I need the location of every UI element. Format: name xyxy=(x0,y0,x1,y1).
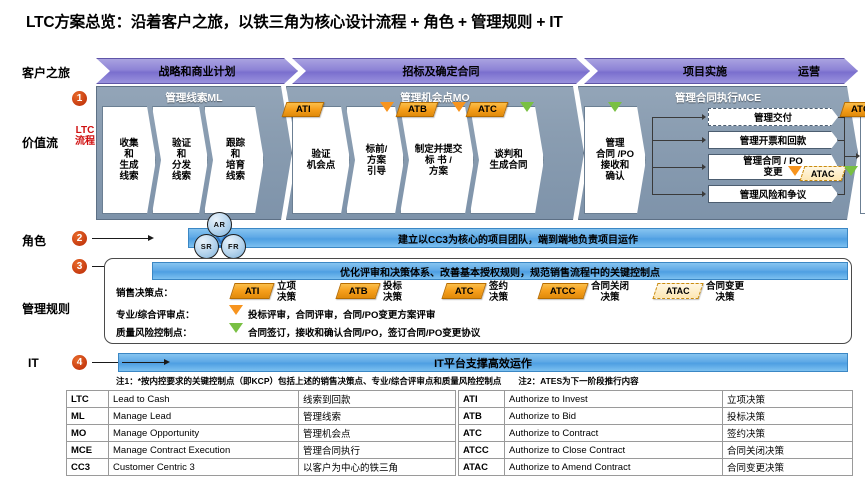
page-title: LTC方案总览：沿着客户之旅，以铁三角为核心设计流程 + 角色 + 管理规则 +… xyxy=(26,10,846,32)
mce-connector-out-1 xyxy=(838,140,845,141)
rules-banner: 优化评审和决策体系、改善基本授权规则，规范销售流程中的关键控制点 xyxy=(152,262,848,280)
value-stream-step-6[interactable]: 谈判和 生成合同 xyxy=(470,106,544,214)
decision-point-ati[interactable]: ATI xyxy=(229,283,274,299)
table-row: ML Manage Lead 管理线索 xyxy=(67,408,456,425)
cc3-role-ar[interactable]: AR xyxy=(207,212,232,237)
decision-point-atb-label: 投标 决策 xyxy=(383,281,402,303)
mce-connector-in-2 xyxy=(652,167,704,168)
mce-connector-close-arrow xyxy=(856,153,860,159)
value-stream-step-5[interactable]: 制定并提交 标 书 / 方案 xyxy=(400,106,474,214)
quality-point-triangle-icon xyxy=(229,323,243,333)
connector-roles-arrow xyxy=(148,235,154,241)
mce-connector-out-3 xyxy=(838,194,845,195)
review-point-triangle-icon xyxy=(229,305,243,315)
sales-decision-label: 销售决策点： xyxy=(116,285,173,299)
connector-roles xyxy=(92,238,148,239)
row-label-rules: 管理规则 xyxy=(22,300,70,317)
decision-point-atac[interactable]: ATAC xyxy=(652,283,703,299)
table-row: MCE Manage Contract Execution 管理合同执行 xyxy=(67,442,456,459)
table-row: MO Manage Opportunity 管理机会点 xyxy=(67,425,456,442)
it-banner-arrowhead xyxy=(164,359,170,365)
mce-subbox-3[interactable]: 管理风险和争议 xyxy=(708,185,838,203)
mce-connector-in-1 xyxy=(652,140,704,141)
step-number-3: 3 xyxy=(72,259,87,274)
gate-marker-atc[interactable]: ATC xyxy=(466,102,509,117)
row-label-customer-journey: 客户之旅 xyxy=(22,64,70,81)
footnote: 注1：*按内控要求的关键控制点（即KCP）包括上述的销售决策点、专业/综合评审点… xyxy=(116,375,639,387)
table-row: ATAC Authorize to Amend Contract 合同变更决策 xyxy=(459,459,853,476)
glossary-table-right: ATI Authorize to Invest 立项决策 ATB Authori… xyxy=(458,390,853,476)
review-triangle-3 xyxy=(788,166,802,176)
value-stream-step-8[interactable]: 关闭和 评价 合同 xyxy=(860,106,865,214)
table-row: ATCC Authorize to Close Contract 合同关闭决策 xyxy=(459,442,853,459)
value-stream-step-7[interactable]: 管理 合同 /PO 接收和 确认 xyxy=(584,106,646,214)
table-row: LTC Lead to Cash 线索到回款 xyxy=(67,391,456,408)
customer-journey-bar: 战略和商业计划 招标及确定合同 项目实施 运营 xyxy=(96,58,858,84)
review-point-text: 投标评审，合同评审，合同/PO变更方案评审 xyxy=(248,307,435,321)
gate-marker-ati[interactable]: ATI xyxy=(282,102,325,117)
review-point-label: 专业/综合评审点： xyxy=(116,307,195,321)
journey-phase-3[interactable]: 运营 xyxy=(760,58,858,84)
glossary-table-left: LTC Lead to Cash 线索到回款 ML Manage Lead 管理… xyxy=(66,390,456,476)
gate-marker-atcc[interactable]: ATCC xyxy=(840,102,865,117)
decision-point-atc[interactable]: ATC xyxy=(441,283,486,299)
row-label-it: IT xyxy=(28,356,39,370)
decision-point-atcc[interactable]: ATCC xyxy=(537,283,588,299)
value-stream-step-2[interactable]: 跟踪 和 培育 线索 xyxy=(204,106,264,214)
mce-connector-left-spine xyxy=(652,117,653,194)
quality-triangle-2 xyxy=(608,102,622,112)
it-banner-arrow-line xyxy=(122,362,164,363)
decision-point-atac-label: 合同变更 决策 xyxy=(706,281,744,303)
mce-connector-out-0 xyxy=(838,117,845,118)
table-row: ATI Authorize to Invest 立项决策 xyxy=(459,391,853,408)
roles-banner: 建立以CC3为核心的项目团队，端到端地负责项目运作 xyxy=(188,228,848,248)
cc3-role-sr[interactable]: SR xyxy=(194,234,219,259)
table-row: ATB Authorize to Bid 投标决策 xyxy=(459,408,853,425)
mce-connector-in-0 xyxy=(652,117,704,118)
quality-triangle-1 xyxy=(520,102,534,112)
ltc-process-label: LTC 流程 xyxy=(72,126,98,147)
mce-connector-arrow-2 xyxy=(702,164,706,170)
review-triangle-2 xyxy=(452,102,466,112)
value-stream-step-3[interactable]: 验证 机会点 xyxy=(292,106,350,214)
mce-connector-arrow-0 xyxy=(702,114,706,120)
step-number-2: 2 xyxy=(72,231,87,246)
cc3-role-fr[interactable]: FR xyxy=(221,234,246,259)
value-stream-step-0[interactable]: 收集 和 生成 线索 xyxy=(102,106,156,214)
value-stream-band: 管理线索ML 管理机会点MO 管理合同执行MCE 收集 和 生成 线索 验证 和… xyxy=(96,86,858,220)
gate-marker-atb[interactable]: ATB xyxy=(396,102,439,117)
row-label-value-stream: 价值流 xyxy=(22,134,58,151)
cc3-triangle-group: AR SR FR xyxy=(186,212,250,262)
quality-point-label: 质量风险控制点： xyxy=(116,325,192,339)
review-triangle-1 xyxy=(380,102,394,112)
gate-marker-atac[interactable]: ATAC xyxy=(800,166,847,181)
table-row: CC3 Customer Centric 3 以客户为中心的铁三角 xyxy=(67,459,456,476)
quality-triangle-3 xyxy=(844,166,858,176)
mce-connector-arrow-1 xyxy=(702,137,706,143)
quality-point-text: 合同签订，接收和确认合同/PO，签订合同/PO变更协议 xyxy=(248,325,480,339)
it-banner: IT平台支撑高效运作 xyxy=(118,353,848,372)
table-row: ATC Authorize to Contract 签约决策 xyxy=(459,425,853,442)
mce-connector-in-3 xyxy=(652,194,704,195)
slide-root: LTC方案总览：沿着客户之旅，以铁三角为核心设计流程 + 角色 + 管理规则 +… xyxy=(0,0,865,486)
step-number-1: 1 xyxy=(72,91,87,106)
mce-subbox-1[interactable]: 管理开票和回款 xyxy=(708,131,838,149)
mce-connector-arrow-3 xyxy=(702,191,706,197)
decision-point-atcc-label: 合同关闭 决策 xyxy=(591,281,629,303)
step-number-4: 4 xyxy=(72,355,87,370)
journey-phase-0[interactable]: 战略和商业计划 xyxy=(96,58,298,84)
mce-subbox-0[interactable]: 管理交付 xyxy=(708,108,838,126)
journey-phase-1[interactable]: 招标及确定合同 xyxy=(292,58,590,84)
decision-point-atc-label: 签约 决策 xyxy=(489,281,508,303)
row-label-roles: 角色 xyxy=(22,232,46,249)
decision-point-atb[interactable]: ATB xyxy=(335,283,380,299)
decision-point-ati-label: 立项 决策 xyxy=(277,281,296,303)
